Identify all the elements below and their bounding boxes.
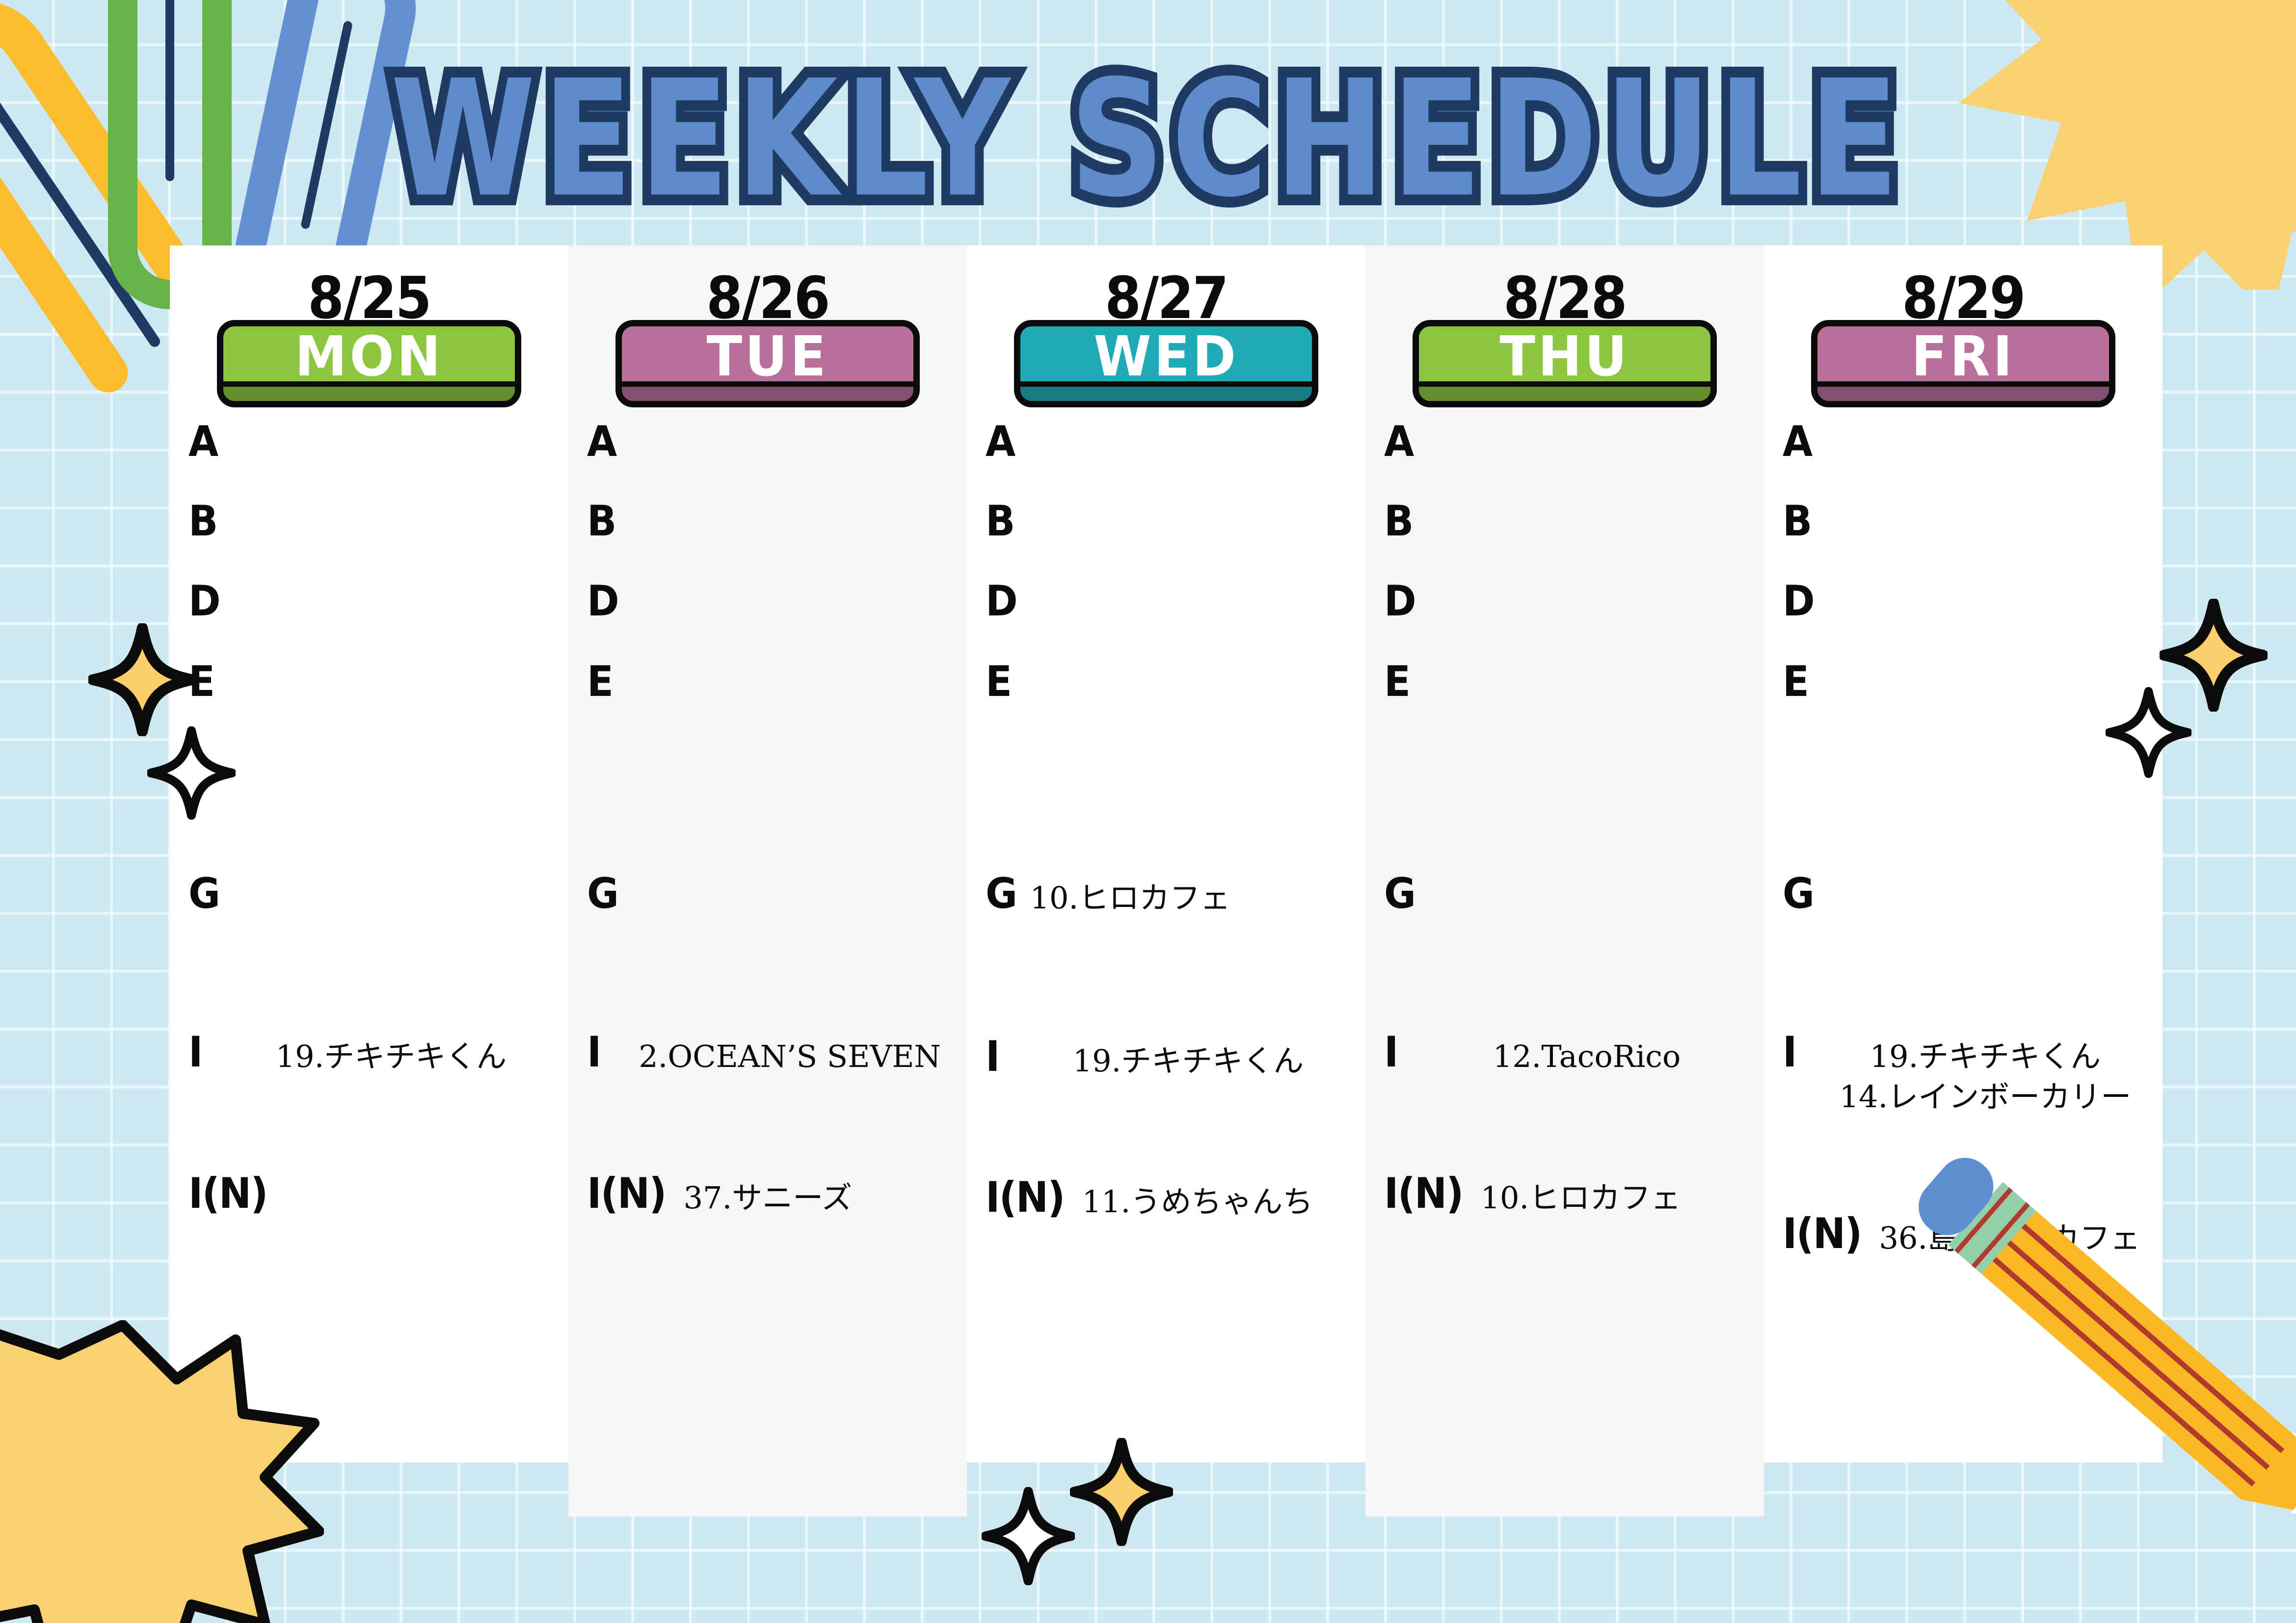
- row-key-i: I: [1783, 1033, 1796, 1073]
- row-items-e: [216, 662, 568, 666]
- schedule-row-i[interactable]: I12.TacoRico: [1365, 1033, 1764, 1077]
- schedule-row-b[interactable]: B: [1365, 502, 1764, 542]
- row-items-b: [1814, 502, 2163, 506]
- row-key-i: I: [188, 1033, 202, 1073]
- row-items-g: [621, 874, 967, 878]
- row-key-i: I: [986, 1037, 999, 1077]
- row-items-e: [1811, 662, 2163, 666]
- day-badge-box: FRI: [1811, 320, 2115, 407]
- row-key-in: I(N): [1384, 1174, 1463, 1214]
- row-key-d: D: [587, 582, 618, 622]
- row-items-i: 19.チキチキくん: [1000, 1037, 1365, 1081]
- row-key-b: B: [1783, 502, 1811, 542]
- schedule-entry[interactable]: 10.ヒロカフェ: [1030, 878, 1365, 918]
- schedule-row-g[interactable]: G: [568, 874, 967, 914]
- row-key-in: I(N): [587, 1174, 666, 1214]
- schedule-entry[interactable]: 10.ヒロカフェ: [1481, 1178, 1764, 1218]
- schedule-row-a[interactable]: A: [967, 422, 1365, 462]
- row-items-in: 11.うめちゃんち: [1071, 1178, 1365, 1222]
- row-items-b: [220, 502, 568, 506]
- date-label: 8/27: [987, 264, 1346, 332]
- schedule-row-d[interactable]: D: [967, 582, 1365, 622]
- schedule-row-in[interactable]: I(N)10.ヒロカフェ: [1365, 1174, 1764, 1218]
- title-container: WEEKLY SCHEDULE: [0, 74, 2296, 205]
- day-badge-box: TUE: [615, 320, 920, 407]
- row-key-a: A: [587, 422, 616, 462]
- row-items-i: 19.チキチキくん: [203, 1033, 568, 1077]
- row-key-d: D: [986, 582, 1017, 622]
- schedule-row-d[interactable]: D: [568, 582, 967, 622]
- schedule-entry[interactable]: 2.OCEAN’S SEVEN: [613, 1037, 967, 1077]
- row-items-g: 10.ヒロカフェ: [1019, 874, 1365, 918]
- row-key-e: E: [986, 662, 1011, 702]
- sparkle-bottom-white-icon: [982, 1487, 1075, 1585]
- row-items-g: [222, 874, 568, 878]
- row-items-a: [619, 422, 967, 426]
- row-key-d: D: [1783, 582, 1814, 622]
- row-key-a: A: [986, 422, 1015, 462]
- schedule-rows: ABDEGI2.OCEAN’S SEVENI(N)37.サニーズ: [568, 422, 967, 1218]
- schedule-row-i[interactable]: I2.OCEAN’S SEVEN: [568, 1033, 967, 1077]
- schedule-row-b[interactable]: B: [568, 502, 967, 542]
- date-label: 8/28: [1386, 264, 1744, 332]
- row-key-g: G: [188, 874, 219, 914]
- schedule-row-b[interactable]: B: [1764, 502, 2163, 542]
- day-badge-wed[interactable]: WED: [1014, 320, 1318, 407]
- row-items-in: [274, 1174, 568, 1178]
- row-items-d: [222, 582, 568, 585]
- page-title: WEEKLY SCHEDULE: [391, 59, 1906, 220]
- schedule-entry[interactable]: 19.チキチキくん: [1011, 1041, 1365, 1081]
- schedule-row-a[interactable]: A: [170, 422, 568, 462]
- row-items-e: [1412, 662, 1764, 666]
- schedule-row-i[interactable]: I19.チキチキくん: [967, 1037, 1365, 1081]
- schedule-row-g[interactable]: G: [1764, 874, 2163, 914]
- day-badge-box: MON: [217, 320, 521, 407]
- row-key-g: G: [1783, 874, 1814, 914]
- schedule-row-d[interactable]: D: [170, 582, 568, 622]
- date-label: 8/29: [1784, 264, 2143, 332]
- schedule-row-g[interactable]: G: [1365, 874, 1764, 914]
- row-key-e: E: [1783, 662, 1808, 702]
- row-key-g: G: [587, 874, 618, 914]
- row-key-g: G: [1384, 874, 1415, 914]
- day-badge-fri[interactable]: FRI: [1811, 320, 2115, 407]
- row-items-b: [618, 502, 967, 506]
- schedule-row-a[interactable]: A: [1365, 422, 1764, 462]
- row-items-e: [615, 662, 967, 666]
- schedule-row-b[interactable]: B: [967, 502, 1365, 542]
- schedule-row-e[interactable]: E: [170, 662, 568, 702]
- row-items-in: 37.サニーズ: [673, 1174, 967, 1218]
- row-items-d: [1019, 582, 1365, 585]
- row-key-i: I: [587, 1033, 601, 1073]
- row-items-a: [1815, 422, 2163, 426]
- day-column-wed: 8/27WEDABDEG10.ヒロカフェI19.チキチキくんI(N)11.うめち…: [967, 245, 1365, 1463]
- row-key-a: A: [1384, 422, 1413, 462]
- schedule-row-i[interactable]: I19.チキチキくん: [170, 1033, 568, 1077]
- schedule-row-in[interactable]: I(N)37.サニーズ: [568, 1174, 967, 1218]
- sparkle-left-white-icon: [147, 726, 236, 820]
- row-key-i: I: [1384, 1033, 1398, 1073]
- schedule-entry[interactable]: 12.TacoRico: [1410, 1037, 1764, 1077]
- schedule-row-e[interactable]: E: [1764, 662, 2163, 702]
- schedule-row-a[interactable]: A: [568, 422, 967, 462]
- row-key-in: I(N): [188, 1174, 267, 1214]
- schedule-entry[interactable]: 19.チキチキくん: [214, 1037, 568, 1077]
- row-key-e: E: [587, 662, 613, 702]
- schedule-rows: ABDEGI12.TacoRicoI(N)10.ヒロカフェ: [1365, 422, 1764, 1218]
- day-column-thu: 8/28THUABDEGI12.TacoRicoI(N)10.ヒロカフェ: [1365, 245, 1764, 1517]
- row-key-d: D: [1384, 582, 1415, 622]
- row-key-e: E: [1384, 662, 1410, 702]
- row-items-d: [1816, 582, 2163, 585]
- row-items-d: [1418, 582, 1764, 585]
- row-items-a: [1416, 422, 1764, 426]
- row-items-d: [621, 582, 967, 585]
- schedule-entry[interactable]: 37.サニーズ: [684, 1178, 967, 1218]
- sparkle-right-white-icon: [2106, 687, 2191, 778]
- schedule-row-g[interactable]: G10.ヒロカフェ: [967, 874, 1365, 918]
- row-key-d: D: [188, 582, 220, 622]
- day-badge-box: WED: [1014, 320, 1318, 407]
- day-column-mon: 8/25MONABDEGI19.チキチキくんI(N): [170, 245, 568, 1463]
- day-badge-thu[interactable]: THU: [1413, 320, 1717, 407]
- row-key-a: A: [188, 422, 217, 462]
- schedule-row-a[interactable]: A: [1764, 422, 2163, 462]
- schedule-row-d[interactable]: D: [1365, 582, 1764, 622]
- schedule-row-g[interactable]: G: [170, 874, 568, 914]
- schedule-row-e[interactable]: E: [1365, 662, 1764, 702]
- day-column-tue: 8/26TUEABDEGI2.OCEAN’S SEVENI(N)37.サニーズ: [568, 245, 967, 1517]
- schedule-rows: ABDEG10.ヒロカフェI19.チキチキくんI(N)11.うめちゃんち: [967, 422, 1365, 1222]
- schedule-row-e[interactable]: E: [568, 662, 967, 702]
- day-badge-box: THU: [1413, 320, 1717, 407]
- row-key-b: B: [188, 502, 217, 542]
- starburst-bottom-left: [0, 1320, 324, 1623]
- sparkle-bottom-yellow-icon: [1070, 1438, 1173, 1546]
- pencil-bottom-right-icon: [1787, 1070, 2296, 1623]
- day-badge-tue[interactable]: TUE: [615, 320, 920, 407]
- row-items-e: [1014, 662, 1365, 666]
- row-items-in: 10.ヒロカフェ: [1470, 1174, 1764, 1218]
- schedule-row-d[interactable]: D: [1764, 582, 2163, 622]
- row-items-a: [1017, 422, 1365, 426]
- row-key-in: I(N): [986, 1178, 1065, 1218]
- row-items-g: [1816, 874, 2163, 878]
- row-items-g: [1418, 874, 1764, 878]
- row-items-b: [1017, 502, 1365, 506]
- schedule-row-b[interactable]: B: [170, 502, 568, 542]
- schedule-row-in[interactable]: I(N)11.うめちゃんち: [967, 1178, 1365, 1222]
- row-key-b: B: [587, 502, 615, 542]
- day-badge-mon[interactable]: MON: [217, 320, 521, 407]
- schedule-row-in[interactable]: I(N): [170, 1174, 568, 1214]
- schedule-entry[interactable]: 11.うめちゃんち: [1082, 1182, 1365, 1222]
- sparkle-left-yellow-icon: [88, 623, 196, 736]
- row-key-g: G: [986, 874, 1016, 914]
- row-items-i: 2.OCEAN’S SEVEN: [602, 1033, 967, 1077]
- schedule-row-e[interactable]: E: [967, 662, 1365, 702]
- row-key-a: A: [1783, 422, 1812, 462]
- row-items-a: [220, 422, 568, 426]
- date-label: 8/25: [190, 264, 549, 332]
- date-label: 8/26: [588, 264, 947, 332]
- row-key-b: B: [986, 502, 1014, 542]
- row-key-b: B: [1384, 502, 1413, 542]
- row-items-b: [1415, 502, 1764, 506]
- row-items-i: 12.TacoRico: [1399, 1033, 1764, 1077]
